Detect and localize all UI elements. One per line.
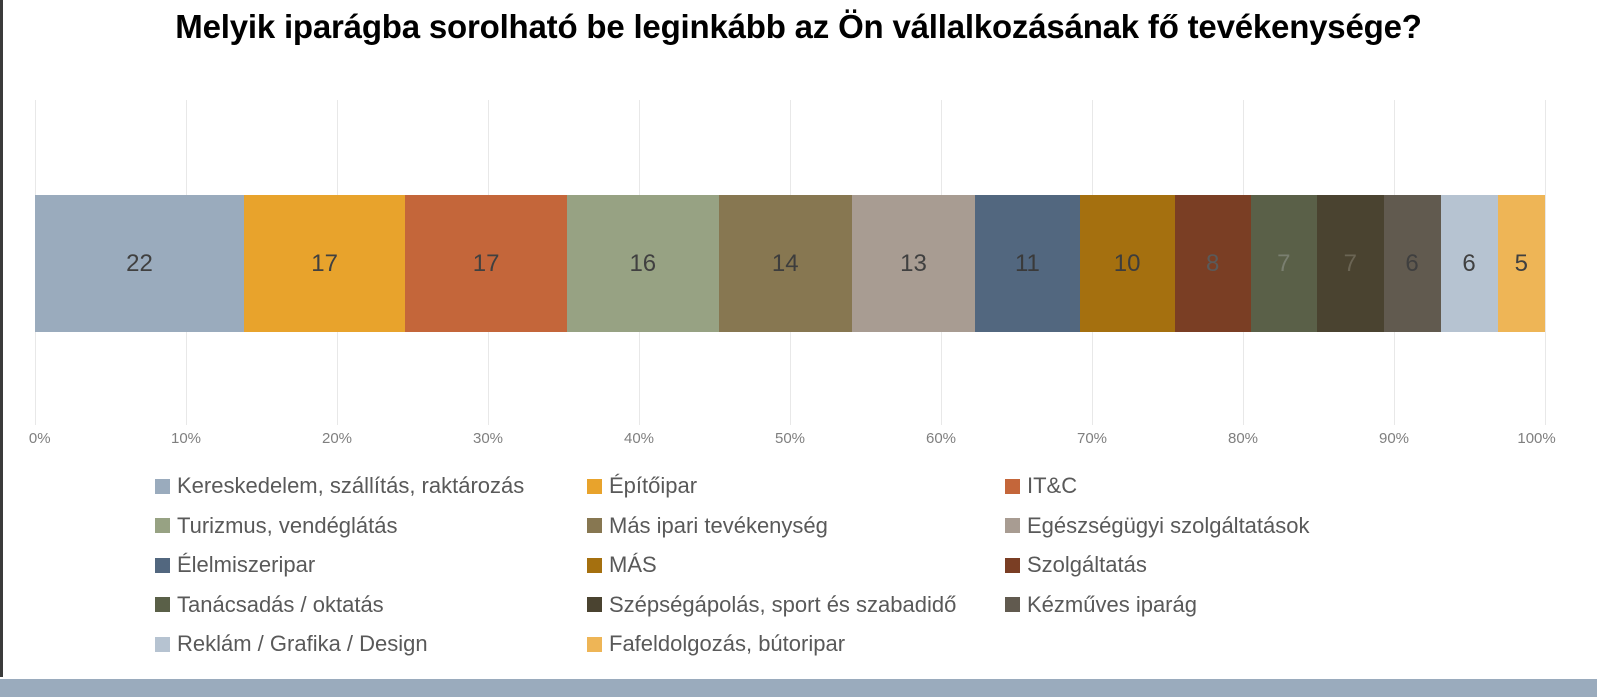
legend-swatch-icon [587,479,602,494]
x-axis-tick-label: 80% [1228,430,1258,447]
legend-item[interactable]: Turizmus, vendéglátás [155,506,398,546]
legend-item[interactable]: Tanácsadás / oktatás [155,585,384,625]
bar-segment-value: 16 [629,250,656,278]
bar-segment-value: 11 [1015,250,1040,278]
x-axis: 0%10%20%30%40%50%60%70%80%90%100% [35,425,1545,455]
legend-item-label: Szépségápolás, sport és szabadidő [609,592,956,618]
gridline [1545,100,1546,425]
x-axis-tick-label: 50% [775,430,805,447]
bar-segment-value: 8 [1206,250,1219,278]
legend-item-label: Kézműves iparág [1027,592,1197,618]
legend-swatch-icon [587,518,602,533]
legend-item-label: Más ipari tevékenység [609,513,828,539]
legend-item[interactable]: Más ipari tevékenység [587,506,828,546]
bar-segment: 11 [975,195,1079,332]
legend-item-label: Tanácsadás / oktatás [177,592,384,618]
legend-row: ÉlelmiszeriparMÁSSzolgáltatás [155,545,1485,585]
footer-band [0,679,1597,697]
bar-segment: 5 [1498,195,1545,332]
legend-item[interactable]: Fafeldolgozás, bútoripar [587,624,845,664]
legend-item-label: Kereskedelem, szállítás, raktározás [177,473,524,499]
legend-swatch-icon [1005,479,1020,494]
bar-segment: 13 [852,195,975,332]
x-axis-tick-label: 10% [171,430,201,447]
legend-item[interactable]: Reklám / Grafika / Design [155,624,428,664]
bar-segment-value: 22 [126,250,153,278]
legend-item[interactable]: Élelmiszeripar [155,545,315,585]
legend-swatch-icon [1005,597,1020,612]
legend-item[interactable]: MÁS [587,545,657,585]
bar-segment: 17 [405,195,566,332]
chart-legend: Kereskedelem, szállítás, raktározásÉpítő… [155,466,1485,656]
x-axis-tick-label: 0% [29,430,51,447]
legend-item-label: Szolgáltatás [1027,552,1147,578]
page-title: Melyik iparágba sorolható be leginkább a… [0,8,1597,46]
x-axis-tick-label: 40% [624,430,654,447]
legend-item-label: IT&C [1027,473,1077,499]
x-axis-tick-label: 100% [1517,430,1555,447]
legend-row: Kereskedelem, szállítás, raktározásÉpítő… [155,466,1485,506]
legend-swatch-icon [155,637,170,652]
slide-canvas: Melyik iparágba sorolható be leginkább a… [0,0,1597,697]
chart-plot-area: 2217171614131110877665 [35,100,1545,425]
legend-item[interactable]: IT&C [1005,466,1077,506]
slide-left-edge [0,0,3,697]
bar-segment-value: 14 [772,250,799,278]
x-axis-tick-label: 60% [926,430,956,447]
bar-segment-value: 6 [1462,250,1475,278]
bar-segment: 16 [567,195,719,332]
x-axis-tick-label: 90% [1379,430,1409,447]
bar-segment: 6 [1441,195,1498,332]
bar-segment-value: 13 [900,250,927,278]
legend-row: Turizmus, vendéglátásMás ipari tevékenys… [155,506,1485,546]
legend-swatch-icon [155,558,170,573]
legend-swatch-icon [155,518,170,533]
legend-item[interactable]: Egészségügyi szolgáltatások [1005,506,1310,546]
bar-segment-value: 7 [1344,250,1357,278]
legend-swatch-icon [155,479,170,494]
bar-segment: 7 [1317,195,1383,332]
bar-segment-value: 10 [1114,250,1141,278]
legend-item[interactable]: Szolgáltatás [1005,545,1147,585]
legend-item-label: Egészségügyi szolgáltatások [1027,513,1310,539]
legend-item[interactable]: Szépségápolás, sport és szabadidő [587,585,956,625]
legend-swatch-icon [587,597,602,612]
x-axis-tick-label: 70% [1077,430,1107,447]
stacked-bar: 2217171614131110877665 [35,195,1545,332]
bar-segment-value: 17 [311,250,338,278]
legend-item-label: MÁS [609,552,657,578]
legend-row: Reklám / Grafika / DesignFafeldolgozás, … [155,624,1485,664]
legend-item[interactable]: Kézműves iparág [1005,585,1197,625]
bar-segment: 14 [719,195,852,332]
bar-segment: 22 [35,195,244,332]
bar-segment: 8 [1175,195,1251,332]
bar-segment: 10 [1080,195,1175,332]
bar-segment-value: 7 [1277,250,1290,278]
legend-item-label: Fafeldolgozás, bútoripar [609,631,845,657]
legend-swatch-icon [1005,558,1020,573]
legend-item-label: Turizmus, vendéglátás [177,513,398,539]
bar-segment: 17 [244,195,405,332]
legend-row: Tanácsadás / oktatásSzépségápolás, sport… [155,585,1485,625]
bar-segment-value: 5 [1515,250,1528,278]
legend-item-label: Reklám / Grafika / Design [177,631,428,657]
bar-segment-value: 6 [1405,250,1418,278]
x-axis-tick-label: 20% [322,430,352,447]
bar-segment: 7 [1251,195,1317,332]
bar-segment: 6 [1384,195,1441,332]
legend-swatch-icon [587,637,602,652]
legend-item-label: Építőipar [609,473,697,499]
legend-item[interactable]: Kereskedelem, szállítás, raktározás [155,466,524,506]
legend-item-label: Élelmiszeripar [177,552,315,578]
bar-segment-value: 17 [473,250,500,278]
x-axis-tick-label: 30% [473,430,503,447]
legend-swatch-icon [587,558,602,573]
legend-item[interactable]: Építőipar [587,466,697,506]
legend-swatch-icon [155,597,170,612]
legend-swatch-icon [1005,518,1020,533]
